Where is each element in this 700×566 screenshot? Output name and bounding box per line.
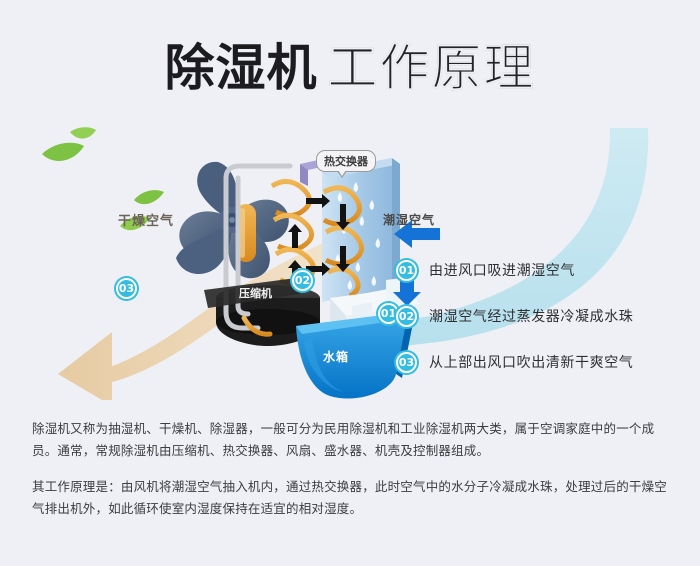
steps-list: 01 由进风口吸进潮湿空气 02 潮湿空气经过蒸发器冷凝成水珠 03 从上部出风… (396, 252, 686, 390)
description-section: 除湿机又称为抽湿机、干燥机、除湿器，一般可分为民用除湿机和工业除湿机两大类，属于… (32, 418, 672, 534)
step-text: 由进风口吸进潮湿空气 (429, 260, 575, 280)
step-badge: 03 (396, 352, 417, 373)
step-badge: 01 (396, 260, 417, 281)
page-title-part1: 除湿机 (165, 39, 318, 97)
page-title: 除湿机工作原理 (0, 28, 700, 100)
diagram-badge-03: 03 (116, 278, 137, 299)
step-item: 02 潮湿空气经过蒸发器冷凝成水珠 (396, 298, 686, 334)
step-text: 从上部出风口吹出清新干爽空气 (429, 352, 633, 372)
page-title-part2: 工作原理 (328, 39, 536, 97)
water-tank-label: 水箱 (323, 348, 349, 365)
step-badge: 02 (396, 306, 417, 327)
paragraph-principle: 其工作原理是：由风机将潮湿空气抽入机内，通过热交换器，此时空气中的水分子冷凝成水… (32, 476, 672, 520)
fan-icon (176, 162, 289, 278)
dry-air-label: 干燥空气 (118, 210, 174, 229)
humid-air-label: 潮湿空气 (383, 211, 435, 228)
compressor-label: 压缩机 (239, 285, 272, 301)
diagram-badge-02: 02 (292, 270, 313, 291)
heat-exchanger-callout: 热交换器 (316, 150, 376, 172)
step-item: 03 从上部出风口吹出清新干爽空气 (396, 344, 686, 380)
step-text: 潮湿空气经过蒸发器冷凝成水珠 (429, 306, 633, 326)
step-item: 01 由进风口吸进潮湿空气 (396, 252, 686, 288)
paragraph-definition: 除湿机又称为抽湿机、干燥机、除湿器，一般可分为民用除湿机和工业除湿机两大类，属于… (32, 418, 672, 462)
